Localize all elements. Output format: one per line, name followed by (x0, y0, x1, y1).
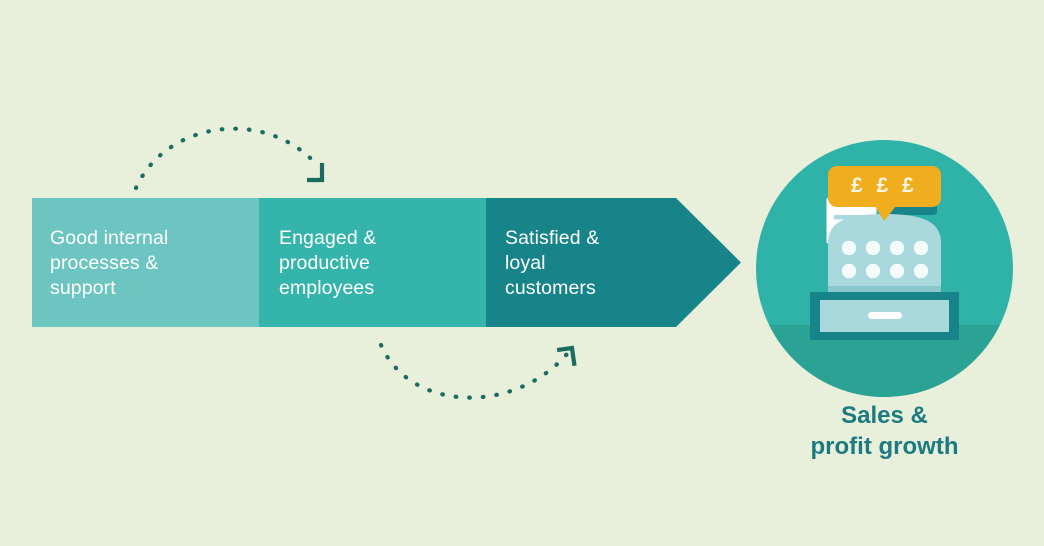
process-arrow-bar: Good internal processes & support Engage… (32, 198, 741, 327)
outcome-caption: Sales & profit growth (756, 400, 1013, 462)
process-segment-1-label: Good internal processes & support (50, 226, 168, 301)
sales-growth-badge: £ £ £ (756, 140, 1013, 397)
diagram-canvas: Good internal processes & support Engage… (0, 0, 1044, 546)
top-feedback-arrow-icon (136, 129, 322, 188)
process-segment-3-label: Satisfied & loyal customers (505, 226, 599, 301)
register-drawer (810, 292, 959, 340)
bottom-feedback-arrow-icon (381, 345, 575, 398)
process-segment-2-label: Engaged & productive employees (279, 226, 376, 301)
price-speech-bubble-text: £ £ £ (756, 174, 1013, 198)
